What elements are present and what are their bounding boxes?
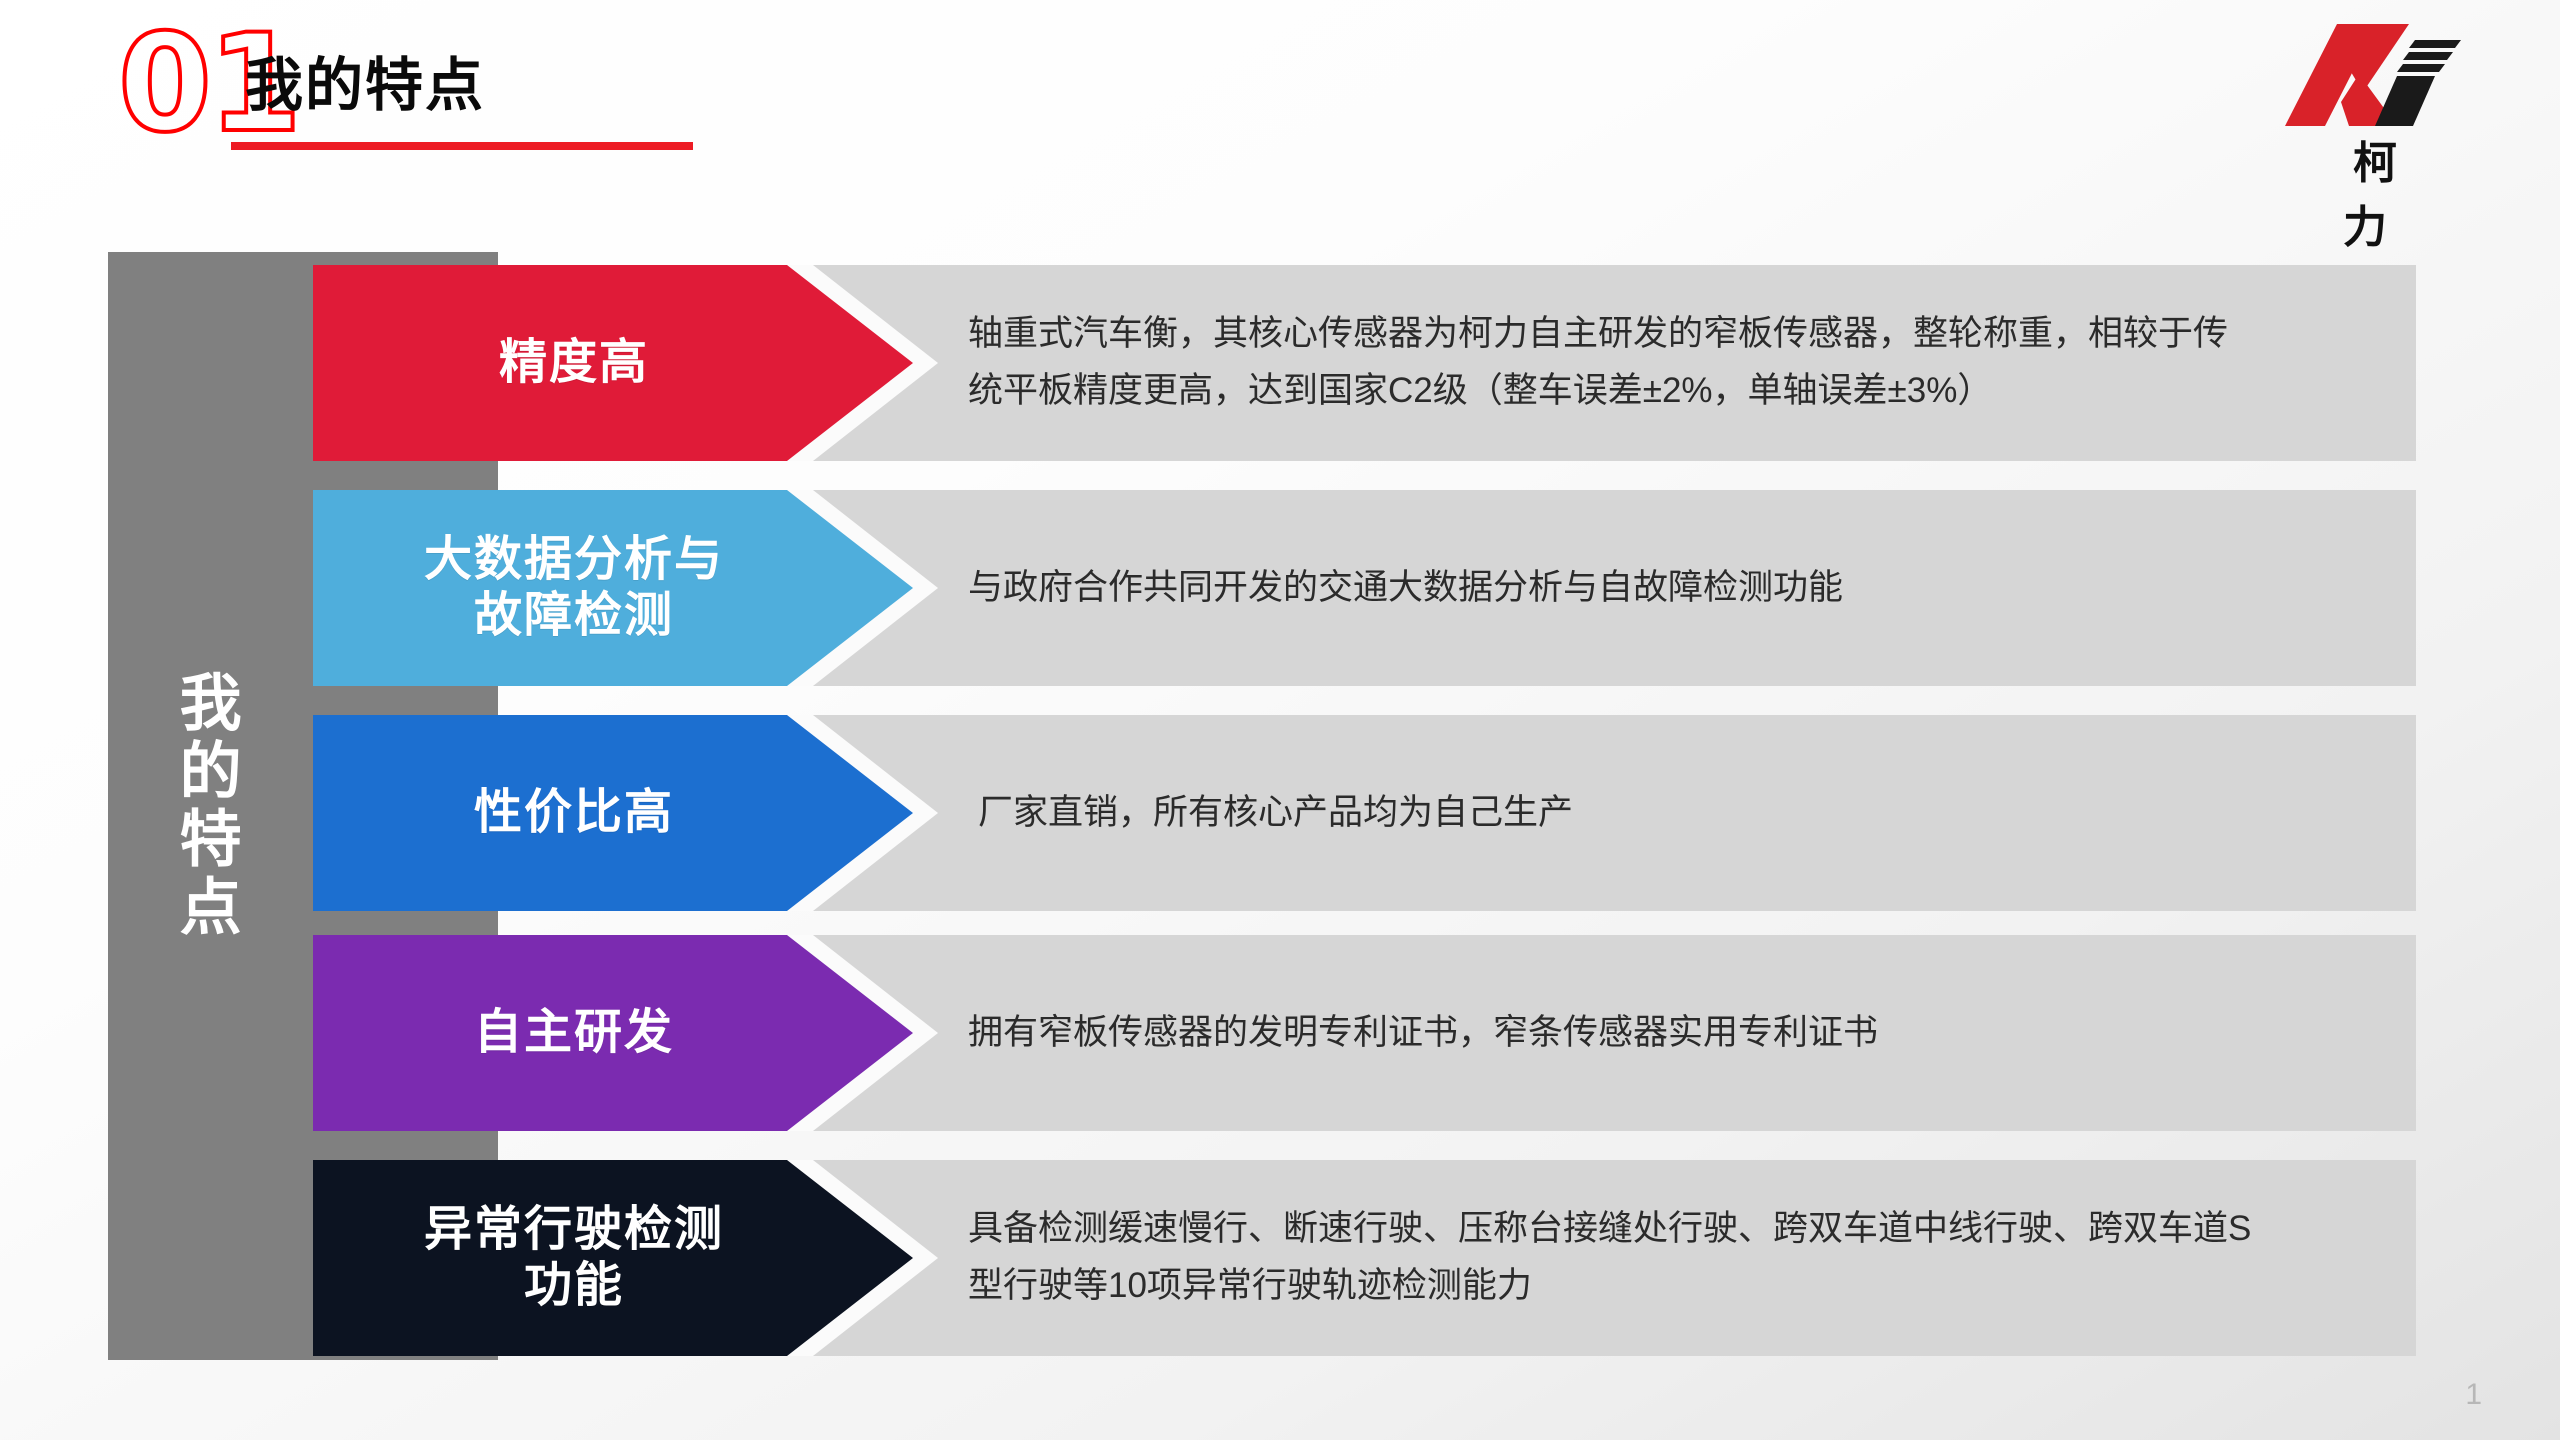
desc-line: 具备检测缓速慢行、断速行驶、压称台接缝处行驶、跨双车道中线行驶、跨双车道S: [968, 1201, 2346, 1258]
feature-description: 厂家直销，所有核心产品均为自己生产: [978, 715, 2416, 911]
desc-line: 拥有窄板传感器的发明专利证书，窄条传感器实用专利证书: [968, 1005, 2346, 1062]
feature-label: 异常行驶检测 功能: [424, 1202, 802, 1313]
feature-label: 大数据分析与 故障检测: [424, 532, 802, 643]
chevron-shape[interactable]: 异常行驶检测 功能: [313, 1160, 913, 1356]
feature-label: 性价比高: [474, 785, 752, 841]
desc-line: 与政府合作共同开发的交通大数据分析与自故障检测功能: [968, 560, 2346, 617]
feature-description: 拥有窄板传感器的发明专利证书，窄条传感器实用专利证书: [968, 935, 2416, 1131]
chevron-shape[interactable]: 自主研发: [313, 935, 913, 1131]
chevron-shape[interactable]: 精度高: [313, 265, 913, 461]
desc-line: 型行驶等10项异常行驶轨迹检测能力: [968, 1258, 2346, 1315]
desc-line: 轴重式汽车衡，其核心传感器为柯力自主研发的窄板传感器，整轮称重，相较于传: [968, 306, 2346, 363]
desc-line: 厂家直销，所有核心产品均为自己生产: [978, 785, 2346, 842]
feature-label: 精度高: [499, 335, 727, 391]
desc-line: 统平板精度更高，达到国家C2级（整车误差±2%，单轴误差±3%）: [968, 363, 2346, 420]
side-column-label: 我的特点: [108, 252, 300, 1360]
chevron-shape[interactable]: 性价比高: [313, 715, 913, 911]
feature-label: 自主研发: [474, 1005, 752, 1061]
feature-description: 与政府合作共同开发的交通大数据分析与自故障检测功能: [968, 490, 2416, 686]
chevron-shape[interactable]: 大数据分析与 故障检测: [313, 490, 913, 686]
feature-description: 轴重式汽车衡，其核心传感器为柯力自主研发的窄板传感器，整轮称重，相较于传 统平板…: [968, 265, 2416, 461]
page-number: 1: [2465, 1378, 2482, 1412]
features-diagram: 我的特点 精度高 轴重式汽车衡，其核心传感器为柯力自主研发的窄板传感器，整轮称重…: [0, 0, 2560, 1440]
feature-description: 具备检测缓速慢行、断速行驶、压称台接缝处行驶、跨双车道中线行驶、跨双车道S 型行…: [968, 1160, 2416, 1356]
